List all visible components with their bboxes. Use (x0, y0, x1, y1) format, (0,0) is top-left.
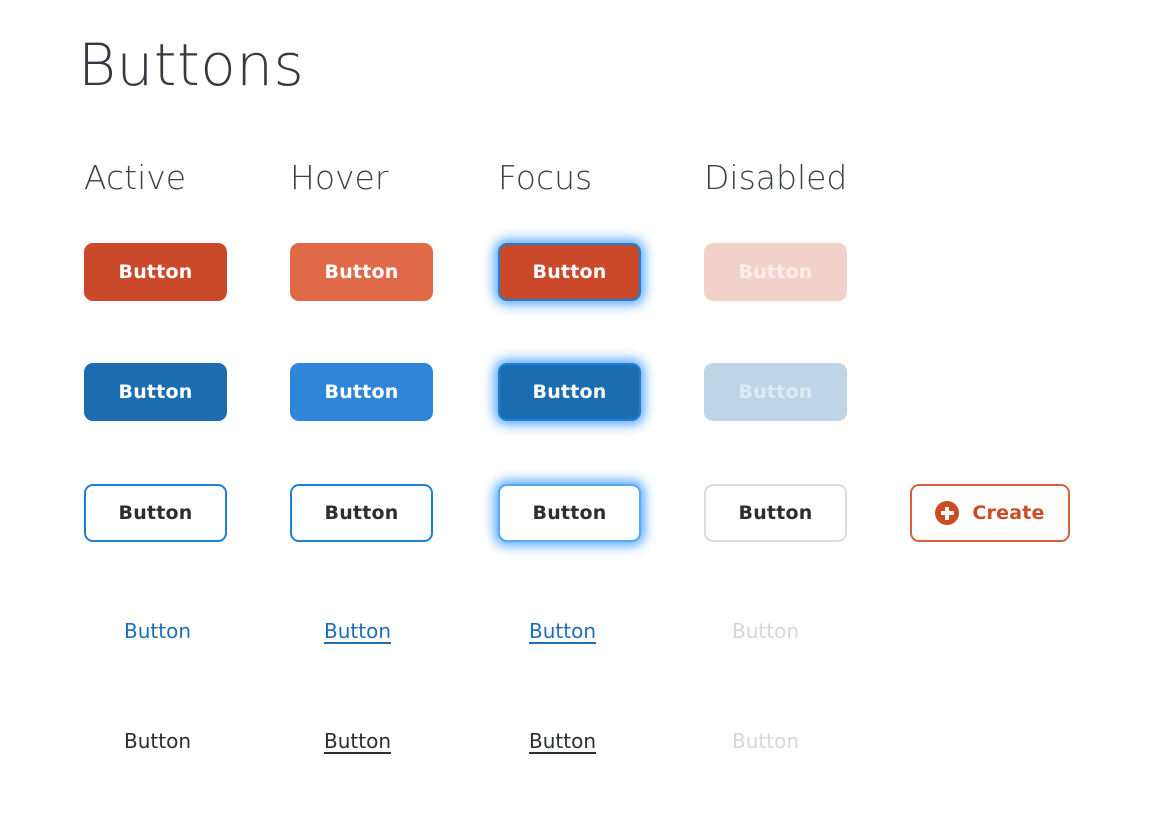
link-dark-active[interactable]: Button (124, 727, 191, 755)
cell-primary-orange-focus: Button (498, 243, 641, 301)
button-outline-hover[interactable]: Button (290, 484, 433, 542)
button-primary-orange-hover[interactable]: Button (290, 243, 433, 301)
cell-link-blue-hover: Button (324, 617, 391, 645)
cell-primary-orange-hover: Button (290, 243, 433, 301)
link-blue-focus[interactable]: Button (529, 617, 596, 645)
cell-link-dark-focus: Button (529, 727, 596, 755)
button-primary-orange-active[interactable]: Button (84, 243, 227, 301)
cell-link-dark-hover: Button (324, 727, 391, 755)
button-outline-focus[interactable]: Button (498, 484, 641, 542)
cell-secondary-blue-hover: Button (290, 363, 433, 421)
button-secondary-blue-active[interactable]: Button (84, 363, 227, 421)
cell-secondary-blue-disabled: Button (704, 363, 847, 421)
cell-primary-orange-active: Button (84, 243, 227, 301)
plus-circle-icon (935, 501, 959, 525)
link-blue-disabled: Button (732, 617, 799, 645)
cell-link-dark-active: Button (124, 727, 191, 755)
button-grid: Button Button Button Button Button Butto… (0, 0, 1160, 836)
link-dark-disabled: Button (732, 727, 799, 755)
button-outline-active[interactable]: Button (84, 484, 227, 542)
cell-link-blue-focus: Button (529, 617, 596, 645)
cell-secondary-blue-active: Button (84, 363, 227, 421)
button-primary-orange-disabled: Button (704, 243, 847, 301)
create-button-label: Create (972, 502, 1044, 524)
cell-outline-focus: Button (498, 484, 641, 542)
cell-outline-disabled: Button (704, 484, 847, 542)
link-dark-focus[interactable]: Button (529, 727, 596, 755)
link-dark-hover[interactable]: Button (324, 727, 391, 755)
link-blue-active[interactable]: Button (124, 617, 191, 645)
create-button[interactable]: Create (910, 484, 1070, 542)
cell-secondary-blue-focus: Button (498, 363, 641, 421)
button-secondary-blue-focus[interactable]: Button (498, 363, 641, 421)
cell-outline-hover: Button (290, 484, 433, 542)
cell-link-dark-disabled: Button (732, 727, 799, 755)
button-secondary-blue-hover[interactable]: Button (290, 363, 433, 421)
cell-link-blue-active: Button (124, 617, 191, 645)
button-secondary-blue-disabled: Button (704, 363, 847, 421)
cell-primary-orange-disabled: Button (704, 243, 847, 301)
link-blue-hover[interactable]: Button (324, 617, 391, 645)
button-outline-disabled: Button (704, 484, 847, 542)
button-primary-orange-focus[interactable]: Button (498, 243, 641, 301)
cell-link-blue-disabled: Button (732, 617, 799, 645)
cell-outline-active: Button (84, 484, 227, 542)
cell-create-button: Create (910, 484, 1070, 542)
